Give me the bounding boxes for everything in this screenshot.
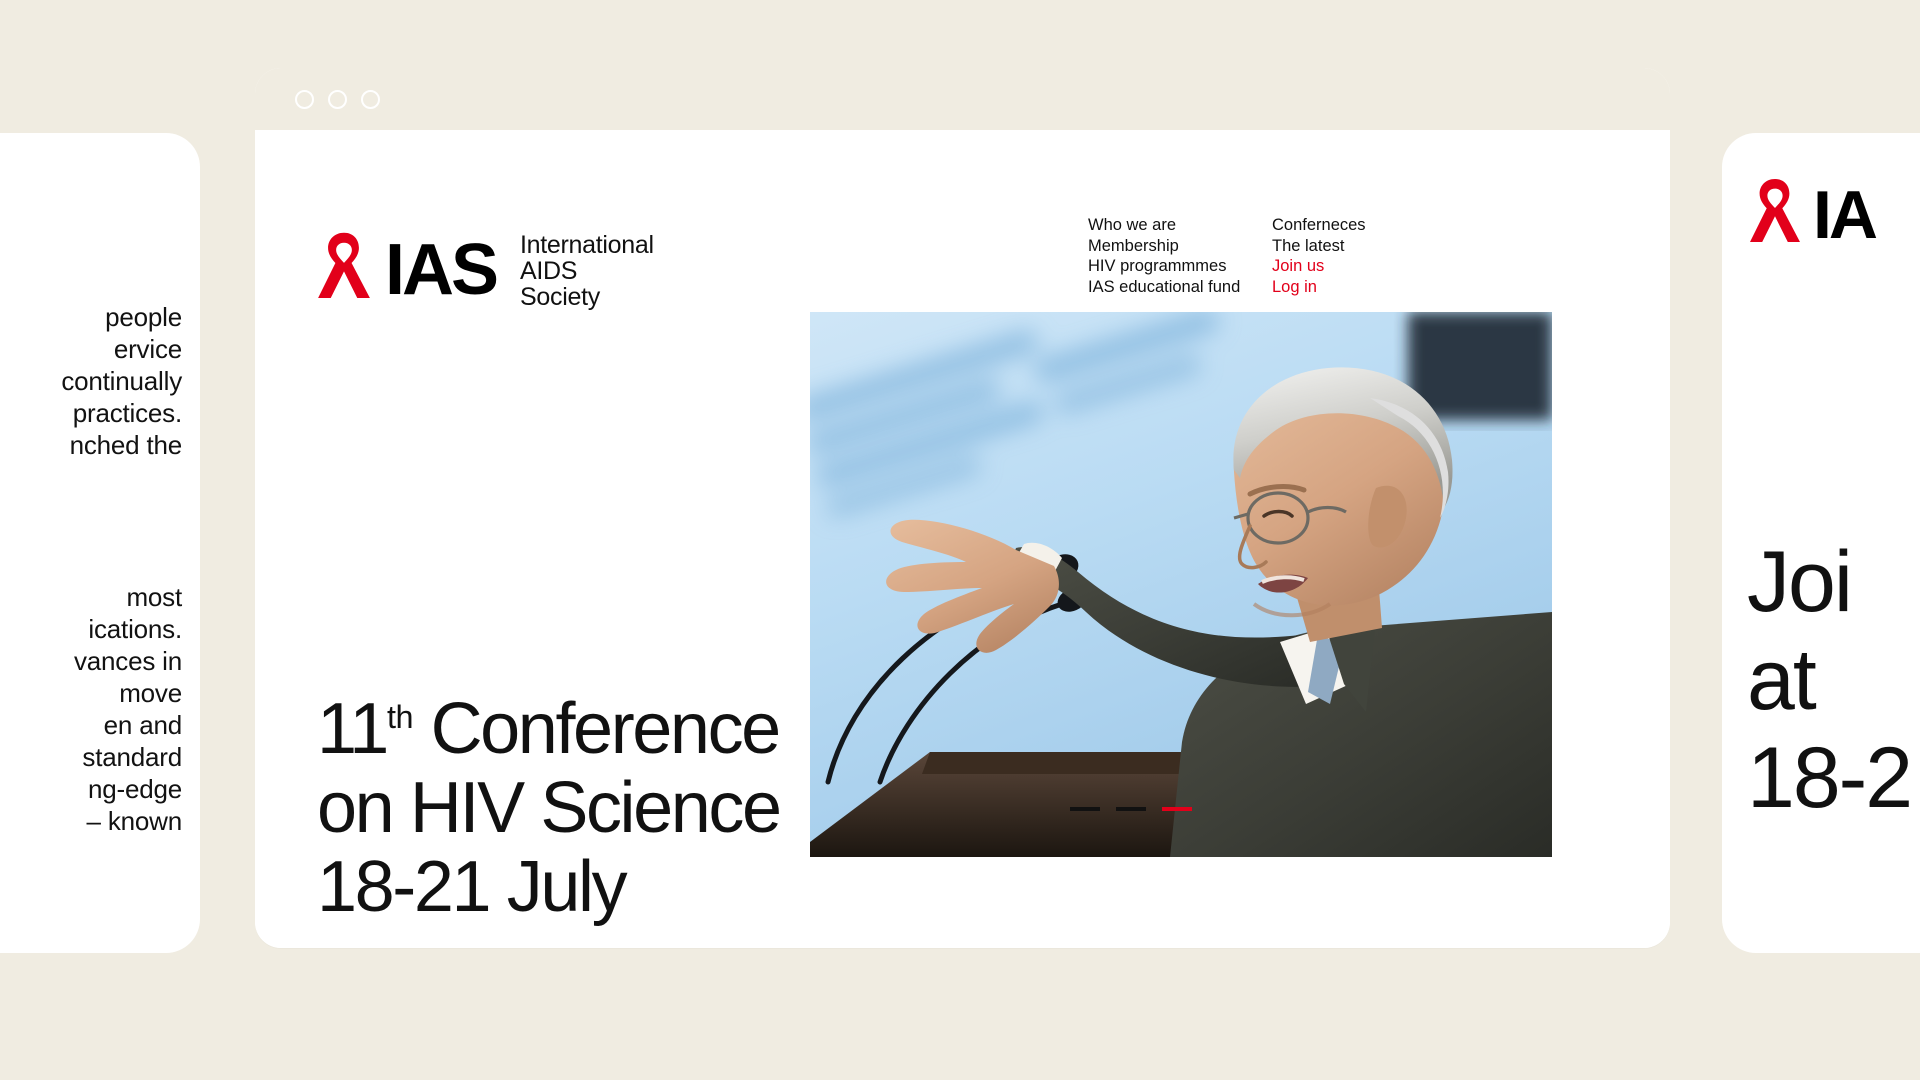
peek-left-copy: people ervice continually practices. nch… <box>0 301 200 837</box>
carousel-indicator-2[interactable] <box>1116 807 1146 811</box>
hero-headline-line-2: on HIV Science <box>317 769 780 848</box>
peek-right-headline-line: at <box>1747 631 1911 729</box>
logo-full-name: International AIDS Society <box>520 232 654 310</box>
browser-window: IAS International AIDS Society Who we ar… <box>255 68 1670 948</box>
screen: people ervice continually practices. nch… <box>0 0 1920 1080</box>
nav-item-ias-educational-fund[interactable]: IAS educational fund <box>1088 277 1240 298</box>
nav-item-the-latest[interactable]: The latest <box>1272 236 1366 257</box>
peek-left-line: people <box>0 301 182 333</box>
peek-left-line: standard <box>0 741 182 773</box>
nav-item-hiv-programmes[interactable]: HIV programmmes <box>1088 256 1240 277</box>
peek-card-left: people ervice continually practices. nch… <box>0 133 200 953</box>
hero-ordinal-number: 11 <box>317 689 387 769</box>
logo-name-line: AIDS <box>520 258 654 284</box>
peek-card-right: IA Joi at 18-2 <box>1722 133 1920 953</box>
carousel-indicators <box>1070 807 1192 811</box>
nav-item-join-us[interactable]: Join us <box>1272 256 1366 277</box>
site-header: IAS International AIDS Society Who we ar… <box>255 130 1670 295</box>
peek-right-headline: Joi at 18-2 <box>1747 533 1911 827</box>
carousel-indicator-3-active[interactable] <box>1162 807 1192 811</box>
logo-wordmark: IAS <box>385 242 496 298</box>
primary-nav-column-2: Conferneces The latest Join us Log in <box>1272 215 1366 297</box>
site-logo[interactable]: IAS International AIDS Society <box>315 230 654 311</box>
peek-right-headline-line: Joi <box>1747 533 1911 631</box>
nav-item-membership[interactable]: Membership <box>1088 236 1240 257</box>
logo-name-line: International <box>520 232 654 258</box>
hero-image-speaker-at-podium <box>810 312 1552 857</box>
logo-name-line: Society <box>520 284 654 310</box>
peek-right-headline-line: 18-2 <box>1747 729 1911 827</box>
peek-left-line: vances in <box>0 645 182 677</box>
peek-left-line: move <box>0 677 182 709</box>
peek-left-line: ervice <box>0 333 182 365</box>
hero-headline-rest: Conference <box>413 689 779 769</box>
hero-headline: 11th Conference on HIV Science 18-21 Jul… <box>317 678 780 927</box>
browser-titlebar <box>255 68 1670 130</box>
hero-headline-line-1: 11th Conference <box>317 678 780 769</box>
primary-nav-column-1: Who we are Membership HIV programmmes IA… <box>1088 215 1240 297</box>
window-dot-minimize-icon[interactable] <box>328 90 347 109</box>
carousel-indicator-1[interactable] <box>1070 807 1100 811</box>
window-dot-maximize-icon[interactable] <box>361 90 380 109</box>
hero-headline-line-3: 18-21 July <box>317 848 780 927</box>
aids-ribbon-icon <box>1747 177 1803 254</box>
peek-left-line: en and <box>0 709 182 741</box>
nav-item-log-in[interactable]: Log in <box>1272 277 1366 298</box>
hero-ordinal-suffix: th <box>387 699 413 735</box>
peek-left-line: ications. <box>0 613 182 645</box>
peek-left-line: ng-edge <box>0 773 182 805</box>
peek-left-line: – known <box>0 805 182 837</box>
peek-left-line: continually <box>0 365 182 397</box>
peek-right-wordmark: IA <box>1813 189 1875 242</box>
nav-item-conferences[interactable]: Conferneces <box>1272 215 1366 236</box>
peek-right-logo: IA <box>1747 177 1875 254</box>
peek-left-paragraph-2: most ications. vances in move en and sta… <box>0 581 182 837</box>
peek-left-paragraph-1: people ervice continually practices. nch… <box>0 301 182 461</box>
nav-item-who-we-are[interactable]: Who we are <box>1088 215 1240 236</box>
window-dot-close-icon[interactable] <box>295 90 314 109</box>
aids-ribbon-icon <box>315 230 373 311</box>
page-content: IAS International AIDS Society Who we ar… <box>255 130 1670 948</box>
peek-left-line: most <box>0 581 182 613</box>
peek-left-line: practices. <box>0 397 182 429</box>
peek-left-line: nched the <box>0 429 182 461</box>
